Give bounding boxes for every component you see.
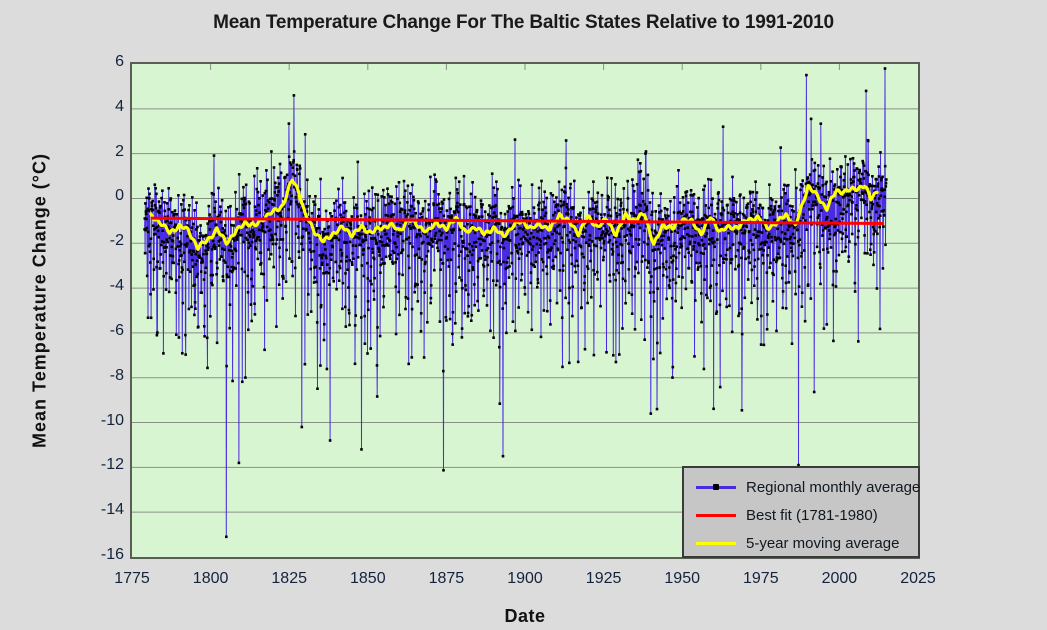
legend-label: Best fit (1781-1980) <box>746 507 878 524</box>
legend-item-moving-average[interactable]: 5-year moving average <box>684 529 918 557</box>
legend-label: 5-year moving average <box>746 535 899 552</box>
chart-legend: Regional monthly average Best fit (1781-… <box>682 466 920 558</box>
x-tick-2000: 2000 <box>804 570 874 588</box>
x-tick-2025: 2025 <box>883 570 953 588</box>
x-tick-1900: 1900 <box>490 570 560 588</box>
legend-line-icon-movingavg <box>694 535 738 551</box>
x-tick-1975: 1975 <box>726 570 796 588</box>
x-tick-1950: 1950 <box>647 570 717 588</box>
legend-label: Regional monthly average <box>746 479 920 496</box>
legend-item-regional-monthly-average[interactable]: Regional monthly average <box>684 473 918 501</box>
x-tick-1825: 1825 <box>254 570 324 588</box>
chart-figure: Mean Temperature Change For The Baltic S… <box>0 0 1047 630</box>
x-tick-1925: 1925 <box>569 570 639 588</box>
x-tick-1800: 1800 <box>176 570 246 588</box>
x-tick-1850: 1850 <box>333 570 403 588</box>
legend-line-icon-bestfit <box>694 507 738 523</box>
legend-item-best-fit[interactable]: Best fit (1781-1980) <box>684 501 918 529</box>
legend-line-icon-regional <box>694 479 738 495</box>
x-tick-1875: 1875 <box>411 570 481 588</box>
x-tick-1775: 1775 <box>97 570 167 588</box>
